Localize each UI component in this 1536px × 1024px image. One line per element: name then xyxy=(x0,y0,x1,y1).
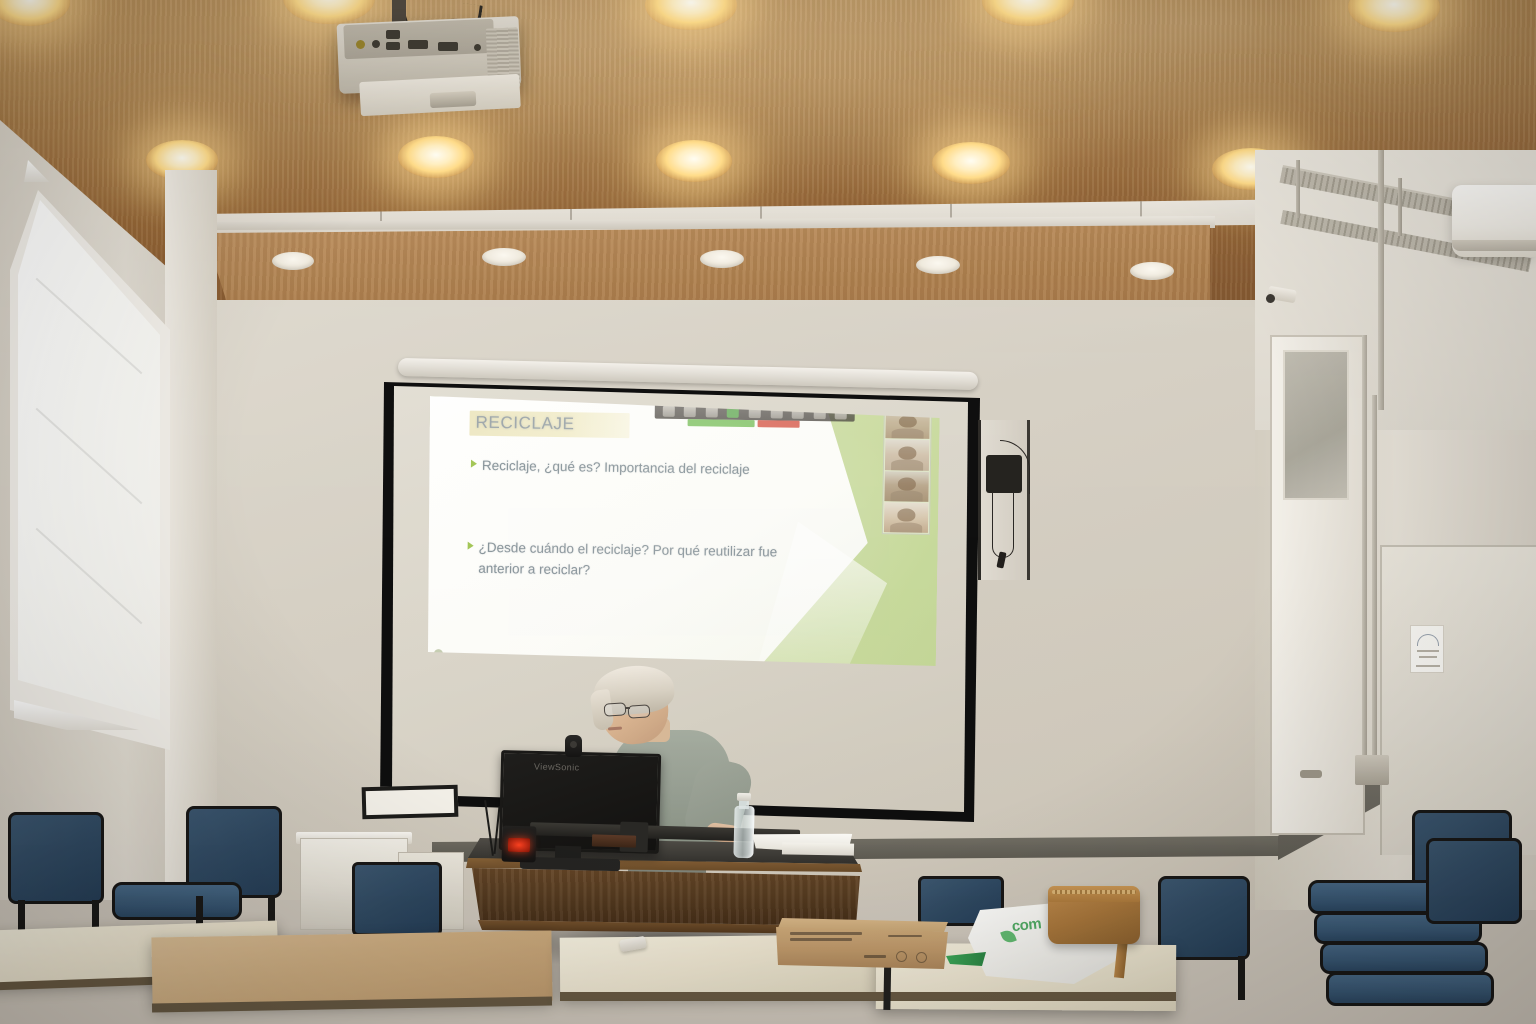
chair-back[interactable] xyxy=(8,812,104,904)
wall-frame xyxy=(362,785,459,820)
box-print-line xyxy=(864,955,886,958)
classroom-scene: RECICLAJE Reciclaje, ¿qué es? Importanci… xyxy=(0,0,1536,1024)
door-closer-rod xyxy=(1362,335,1367,755)
bullet-triangle-icon xyxy=(468,542,474,550)
slide-bullet-item: Reciclaje, ¿qué es? Importancia del reci… xyxy=(471,455,750,480)
box-symbol-icon xyxy=(896,951,907,962)
box-print-line xyxy=(888,935,922,937)
slide-title: RECICLAJE xyxy=(475,413,574,435)
notice-line xyxy=(1419,656,1437,658)
tray-hanger xyxy=(1296,160,1300,218)
folding-table xyxy=(151,931,552,1008)
projector-port xyxy=(386,42,400,50)
blind-slat xyxy=(36,528,143,625)
webcam-lens-icon xyxy=(570,741,577,748)
wall-conduit-pipe xyxy=(1378,150,1384,410)
left-wall-column xyxy=(165,170,217,900)
glasses-icon xyxy=(628,704,651,719)
cardboard-box xyxy=(776,927,948,969)
avatar xyxy=(899,415,917,428)
slide-bullet-text: Reciclaje, ¿qué es? Importancia del reci… xyxy=(482,455,750,480)
tray-hanger xyxy=(1398,178,1402,236)
avatar-body xyxy=(891,459,923,470)
projector-port xyxy=(438,42,458,51)
papers-secondary xyxy=(782,842,854,855)
chair-back-stacked[interactable] xyxy=(1426,838,1522,924)
chair-seat[interactable] xyxy=(112,882,242,920)
box-symbol-icon xyxy=(916,952,927,963)
right-wall-panel xyxy=(1380,545,1536,855)
participant-thumbnail[interactable] xyxy=(884,471,928,502)
notice-arc-icon xyxy=(1417,634,1439,646)
monitor-brand-label: ViewSonic xyxy=(534,761,580,772)
air-conditioner-vent xyxy=(1452,240,1536,251)
bullet-triangle-icon xyxy=(471,460,477,468)
projector-port-panel xyxy=(343,19,494,60)
participant-thumbnails[interactable] xyxy=(882,406,932,535)
avatar-body xyxy=(892,428,924,439)
slide-bullet-text: ¿Desde cuándo el reciclaje? Por qué reut… xyxy=(478,537,779,584)
audio-device-display xyxy=(508,838,530,853)
projector-port xyxy=(474,44,481,51)
projector-port xyxy=(356,40,365,49)
slide-bullet-item: ¿Desde cuándo el reciclaje? Por qué reut… xyxy=(467,537,779,584)
handbag-zipper xyxy=(1052,890,1136,894)
ceiling-light-on xyxy=(398,136,474,178)
share-screen-button[interactable] xyxy=(688,419,755,427)
projector-lens xyxy=(430,91,477,108)
blind-slat xyxy=(36,408,143,505)
ceiling-light-off xyxy=(700,250,744,268)
notice-line xyxy=(1416,665,1440,667)
glasses-bridge xyxy=(625,707,630,709)
door-closer-rod xyxy=(1372,395,1377,755)
ceiling-light-on xyxy=(656,140,732,182)
participant-thumbnail[interactable] xyxy=(884,502,928,533)
chair-seat-stacked[interactable] xyxy=(1326,972,1494,1006)
projector-port xyxy=(408,40,428,49)
wall-notice-sign xyxy=(1410,625,1444,673)
avatar-body xyxy=(891,491,923,502)
projected-slide: RECICLAJE Reciclaje, ¿qué es? Importanci… xyxy=(426,396,940,674)
notice-line xyxy=(1417,650,1439,652)
end-meeting-button[interactable] xyxy=(758,420,800,428)
ceiling-light-off xyxy=(916,256,960,274)
door-closer-box xyxy=(1355,755,1389,785)
chair-back[interactable] xyxy=(352,862,442,936)
glasses-icon xyxy=(604,702,627,717)
microphone-icon[interactable] xyxy=(662,405,674,416)
projector-port xyxy=(386,30,400,39)
door-handle[interactable] xyxy=(1300,770,1322,778)
notebook xyxy=(592,834,636,847)
chair-seat-stacked[interactable] xyxy=(1320,942,1488,974)
bottle-cap xyxy=(737,793,751,801)
ceiling-light-off xyxy=(1130,262,1174,280)
avatar xyxy=(898,446,916,459)
box-print-line xyxy=(790,932,862,935)
table-edge xyxy=(560,992,1176,1001)
door-glass-panel xyxy=(1283,350,1349,500)
handbag-flap xyxy=(1048,886,1140,902)
avatar xyxy=(897,509,915,522)
water-bottle xyxy=(733,806,754,858)
ceiling-light-off xyxy=(482,248,526,266)
chair-leg xyxy=(1238,956,1245,1000)
box-print-line xyxy=(790,938,852,941)
avatar-body xyxy=(890,522,922,533)
participant-thumbnail[interactable] xyxy=(885,439,929,470)
hanging-cable xyxy=(992,492,1014,558)
ceiling-light-on xyxy=(932,142,1010,184)
wooden-podium xyxy=(472,868,860,926)
ceiling-light-off xyxy=(272,252,314,270)
projector-port xyxy=(372,40,380,48)
avatar xyxy=(898,478,916,491)
